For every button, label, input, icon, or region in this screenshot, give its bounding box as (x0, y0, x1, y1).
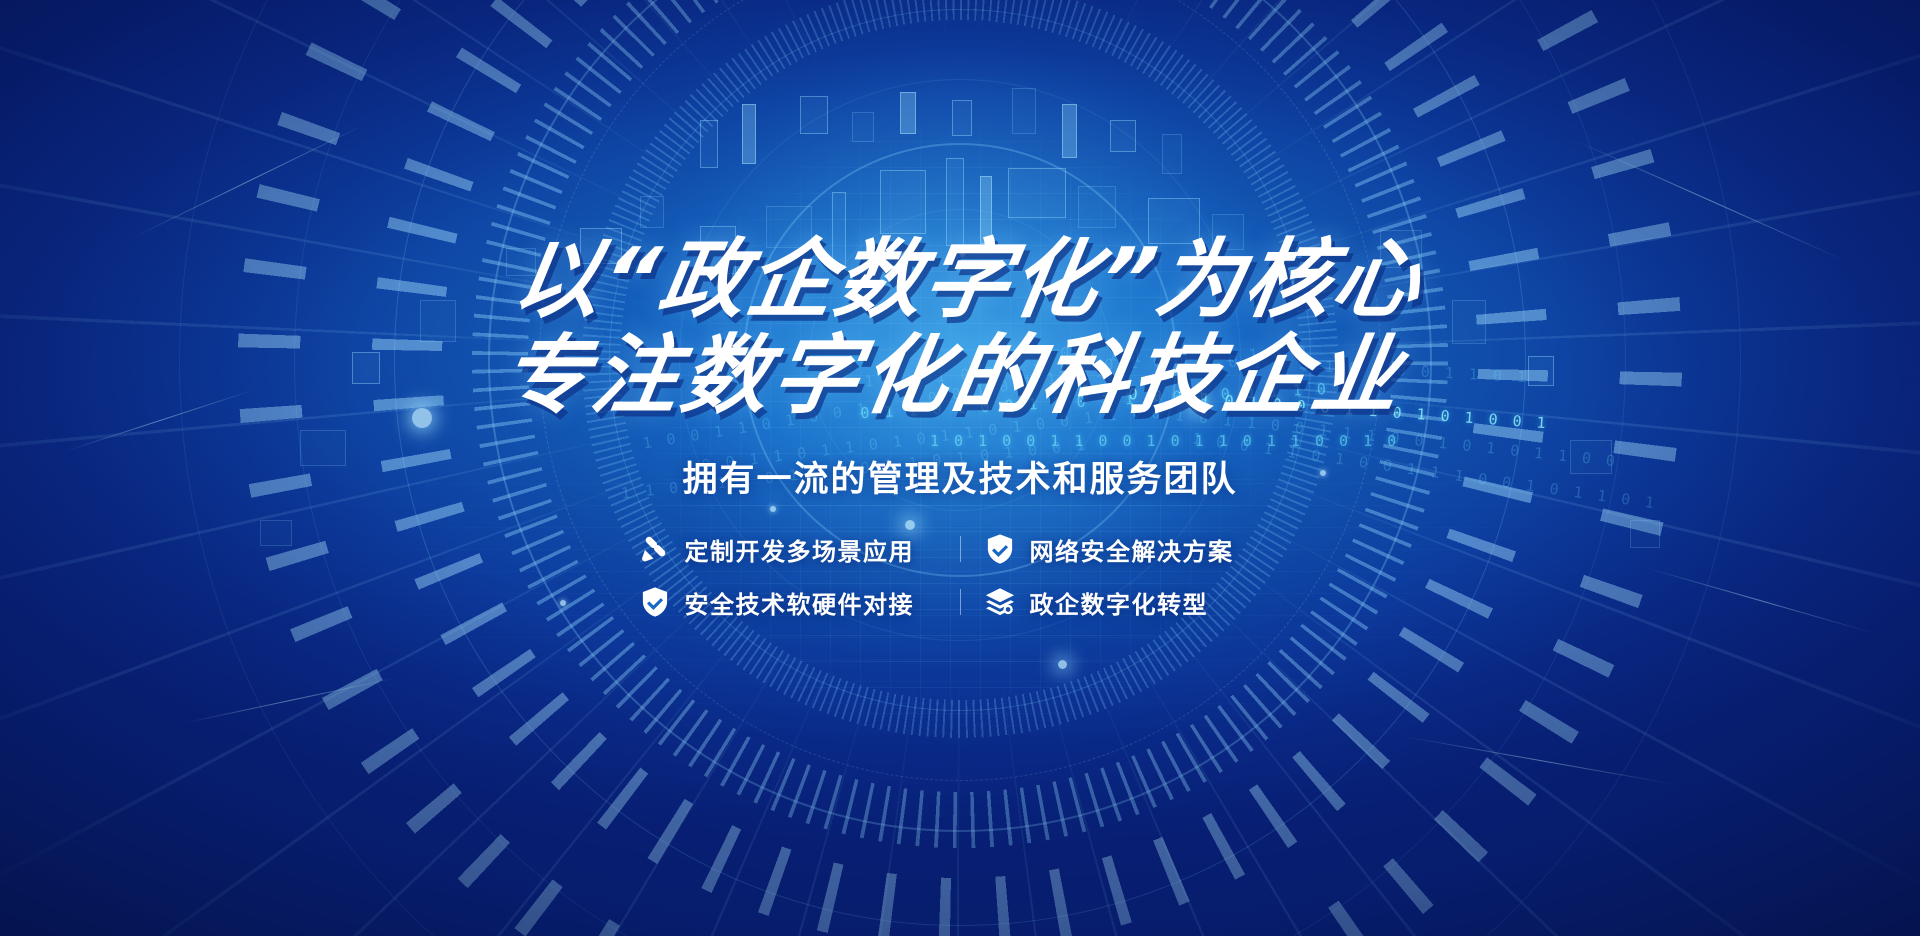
feature-row-2: 安全技术软硬件对接 政企数字化转型 (638, 585, 1283, 620)
feature-divider (960, 536, 961, 562)
feature-label: 安全技术软硬件对接 (685, 585, 915, 620)
subtitle: 拥有一流的管理及技术和服务团队 (682, 451, 1237, 502)
feature-item-network-security[interactable]: 网络安全解决方案 (983, 532, 1283, 567)
feature-list: 定制开发多场景应用 网络安全解决方案 安全技术软 (638, 532, 1283, 620)
headline-line-1: 以“政企数字化”为核心 (507, 232, 1429, 328)
feature-item-security-integration[interactable]: 安全技术软硬件对接 (638, 585, 938, 620)
feature-label: 网络安全解决方案 (1030, 532, 1234, 567)
headline-line-2: 专注数字化的科技企业 (491, 328, 1413, 424)
shield-check-icon (638, 585, 672, 619)
shield-check-icon (983, 532, 1017, 566)
feature-row-1: 定制开发多场景应用 网络安全解决方案 (638, 532, 1283, 567)
feature-divider (960, 589, 961, 615)
feature-label: 定制开发多场景应用 (685, 532, 915, 567)
pen-edit-icon (638, 532, 672, 566)
feature-item-digital-transformation[interactable]: 政企数字化转型 (983, 585, 1283, 620)
banner-content: 以“政企数字化”为核心 专注数字化的科技企业 拥有一流的管理及技术和服务团队 定… (0, 0, 1920, 936)
feature-item-custom-development[interactable]: 定制开发多场景应用 (638, 532, 938, 567)
hero-banner: 1 0 0 1 1 0 1 0 0 1 1 1 0 0 1 0 1 1 0 1 … (0, 0, 1920, 936)
layers-search-icon (983, 585, 1017, 619)
feature-label: 政企数字化转型 (1030, 585, 1209, 620)
headline: 以“政企数字化”为核心 专注数字化的科技企业 (491, 232, 1428, 425)
